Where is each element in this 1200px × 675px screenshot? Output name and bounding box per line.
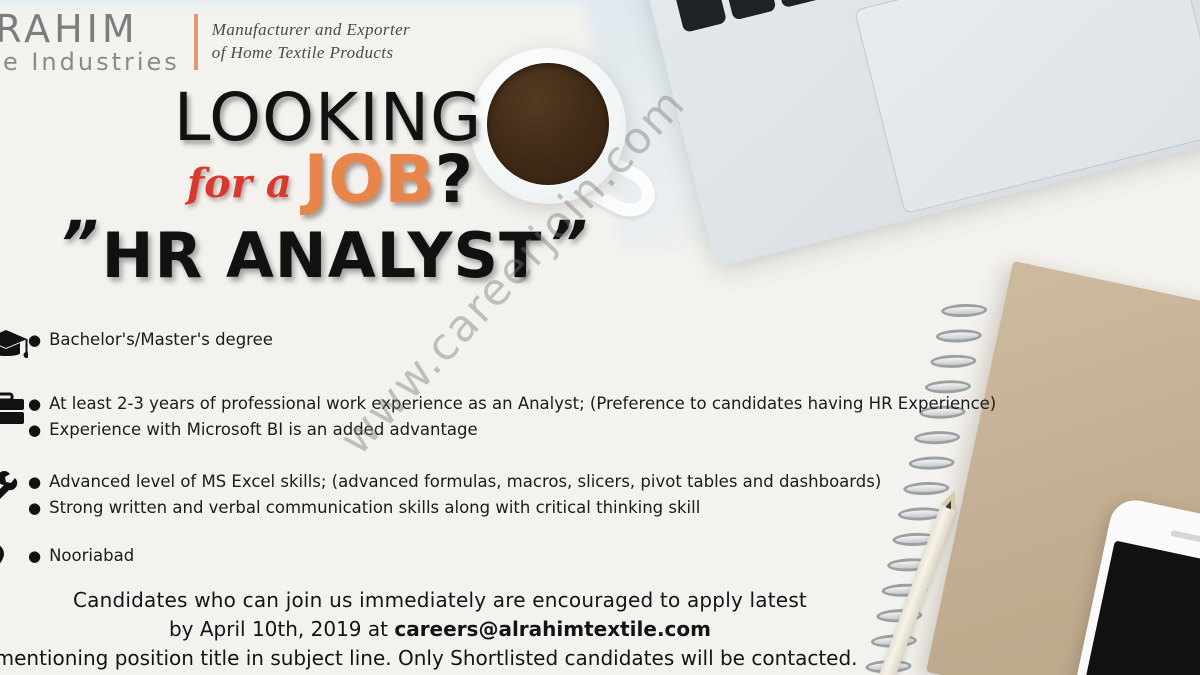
list-item: ● Experience with Microsoft BI is an add… — [28, 417, 996, 443]
tagline-line-2: of Home Textile Products — [212, 42, 410, 65]
bullet-dot: ● — [28, 471, 41, 494]
company-tagline: Manufacturer and Exporter of Home Textil… — [212, 19, 410, 65]
bullet-dot: ● — [28, 329, 41, 352]
briefcase-icon — [0, 390, 28, 428]
headline-job-word: JOB — [304, 141, 435, 218]
list-item-text: Nooriabad — [49, 543, 134, 569]
headline-for-a: for a — [187, 160, 292, 207]
footer-line-2: by April 10th, 2019 at careers@alrahimte… — [0, 617, 880, 641]
list-item-text: Experience with Microsoft BI is an added… — [49, 417, 478, 443]
tools-icon — [0, 468, 28, 506]
logo-company-name: L RAHIM — [0, 10, 180, 48]
job-title: HR ANALYST — [102, 219, 543, 292]
experience-items: ● At least 2-3 years of professional wor… — [28, 390, 996, 442]
laptop-trackpad — [854, 0, 1200, 214]
headline-second-line: for a JOB? — [0, 147, 640, 213]
close-quote-mark: ” — [541, 219, 592, 269]
list-item: ● Strong written and verbal communicatio… — [28, 495, 881, 521]
job-poster: A S D F G H J K L Z X C V B N M — [0, 0, 1200, 675]
bullet-dot: ● — [28, 545, 41, 568]
job-title-line: ” HR ANALYST ” — [0, 219, 640, 292]
headline-question-mark: ? — [435, 141, 473, 218]
bullet-dot: ● — [28, 393, 41, 416]
company-logo: L RAHIM xtile Industries Manufacturer an… — [0, 10, 410, 74]
education-items: ● Bachelor's/Master's degree — [28, 326, 273, 353]
logo-company-division: xtile Industries — [0, 50, 180, 74]
section-experience: ● At least 2-3 years of professional wor… — [0, 390, 1010, 442]
list-item: ● Nooriabad — [28, 543, 134, 569]
phone-earpiece — [1170, 530, 1200, 548]
headline-job: JOB? — [304, 147, 473, 213]
skills-items: ● Advanced level of MS Excel skills; (ad… — [28, 468, 881, 520]
spiral-ring — [941, 303, 987, 318]
open-quote-mark: ” — [52, 219, 103, 269]
tagline-line-1: Manufacturer and Exporter — [212, 19, 410, 42]
list-item-text: Strong written and verbal communication … — [49, 495, 700, 521]
section-skills: ● Advanced level of MS Excel skills; (ad… — [0, 468, 1010, 520]
list-item-text: Advanced level of MS Excel skills; (adva… — [49, 469, 881, 495]
footer-line-1: Candidates who can join us immediately a… — [0, 588, 880, 612]
list-item: ● Bachelor's/Master's degree — [28, 327, 273, 353]
graduation-cap-icon — [0, 326, 28, 364]
bullet-dot: ● — [28, 497, 41, 520]
location-items: ● Nooriabad — [28, 542, 134, 569]
requirements-list: ● Bachelor's/Master's degree ● At least … — [0, 326, 1010, 594]
bullet-dot: ● — [28, 419, 41, 442]
list-item: ● At least 2-3 years of professional wor… — [28, 391, 996, 417]
application-instructions: Candidates who can join us immediately a… — [0, 588, 880, 670]
footer-line-3: y mentioning position title in subject l… — [0, 646, 880, 670]
list-item-text: At least 2-3 years of professional work … — [49, 391, 996, 417]
logo-divider — [194, 14, 198, 70]
list-item-text: Bachelor's/Master's degree — [49, 327, 273, 353]
logo-wordmark: L RAHIM xtile Industries — [0, 10, 180, 74]
list-item: ● Advanced level of MS Excel skills; (ad… — [28, 469, 881, 495]
application-email[interactable]: careers@alrahimtextile.com — [394, 617, 711, 641]
section-location: ● Nooriabad — [0, 542, 1010, 580]
location-pin-icon — [0, 542, 28, 580]
section-education: ● Bachelor's/Master's degree — [0, 326, 1010, 364]
deadline-text: by April 10th, 2019 at — [169, 617, 394, 641]
headline-block: LOOKING for a JOB? ” HR ANALYST ” — [0, 86, 640, 292]
key-fn — [675, 0, 727, 33]
